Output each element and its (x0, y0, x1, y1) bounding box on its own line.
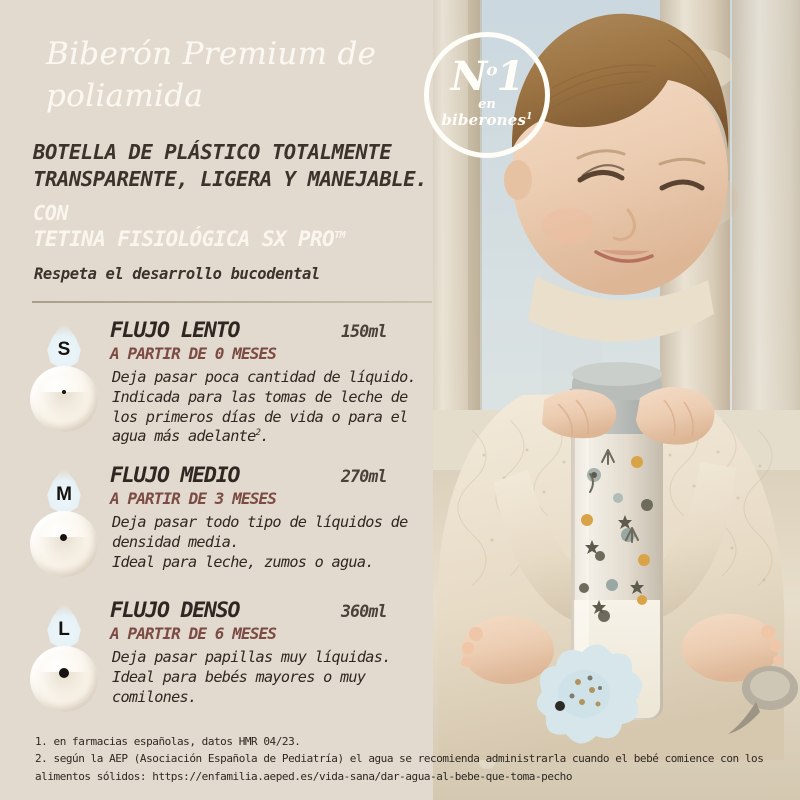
flow-age: A PARTIR DE 6 MESES (110, 624, 276, 643)
droplet-icon: L (44, 602, 84, 650)
flow-size-letter: L (44, 602, 84, 650)
product-script-title: Biberón Premium de poliamida (46, 34, 406, 118)
con-label: CON (33, 201, 68, 225)
badge-category-text: biberones (441, 111, 526, 129)
teat-name-label: TETINA FISIOLÓGICA SX PROTM (33, 227, 345, 251)
badge-number-n: N (451, 53, 487, 100)
trademark-mark: TM (334, 230, 345, 241)
droplet-icon: M (44, 467, 84, 515)
product-headline: BOTELLA DE PLÁSTICO TOTALMENTE TRANSPARE… (33, 139, 428, 194)
flow-size-letter: S (44, 322, 84, 370)
teat-name-text: TETINA FISIOLÓGICA SX PRO (33, 227, 334, 251)
badge-number-ordinal: o (486, 61, 496, 81)
footnote-2: 2. según la AEP (Asociación Española de … (35, 750, 800, 768)
flow-description-tail: . (260, 427, 268, 445)
teat-hole-icon (30, 511, 98, 577)
flow-icon-slow: S (30, 322, 100, 432)
badge-footnote-ref: 1 (526, 112, 532, 122)
flow-volume: 150ml (341, 322, 387, 341)
teat-hole (60, 534, 67, 541)
teat-hole-icon (30, 646, 98, 712)
flow-title: FLUJO MEDIO (110, 463, 239, 488)
info-panel: Biberón Premium de poliamida BOTELLA DE … (0, 0, 433, 800)
flow-icon-dense: L (30, 602, 100, 712)
teat-hole (62, 390, 66, 394)
flow-volume: 360ml (341, 602, 387, 621)
footnote-2-continued[interactable]: alimentos sólidos: https://enfamilia.aep… (35, 768, 800, 786)
badge-number: No1 (451, 57, 524, 97)
advert-root: Biberón Premium de poliamida BOTELLA DE … (0, 0, 800, 800)
number-one-badge: No1 en biberones1 (424, 32, 550, 158)
flow-volume: 270ml (341, 467, 387, 486)
flow-title: FLUJO DENSO (110, 598, 239, 623)
badge-number-value: 1 (497, 53, 524, 100)
badge-en-label: en (478, 98, 496, 112)
flow-icon-medium: M (30, 467, 100, 577)
teat-hole-icon (30, 366, 98, 432)
teat-hole (59, 668, 69, 678)
flow-description: Deja pasar poca cantidad de líquido. Ind… (112, 368, 432, 447)
footnotes: 1. en farmacias españolas, datos HMR 04/… (0, 733, 800, 800)
flow-age: A PARTIR DE 3 MESES (110, 489, 276, 508)
droplet-icon: S (44, 322, 84, 370)
flow-title: FLUJO LENTO (110, 318, 239, 343)
flow-description: Deja pasar todo tipo de líquidos de dens… (112, 513, 432, 572)
flow-size-letter: M (44, 467, 84, 515)
flow-age: A PARTIR DE 0 MESES (110, 344, 276, 363)
badge-category-label: biberones1 (441, 112, 532, 129)
section-divider (32, 301, 432, 303)
teat-benefit-label: Respeta el desarrollo bucodental (34, 265, 320, 283)
flow-description: Deja pasar papillas muy líquidas. Ideal … (112, 648, 432, 707)
footnote-1: 1. en farmacias españolas, datos HMR 04/… (35, 733, 800, 751)
